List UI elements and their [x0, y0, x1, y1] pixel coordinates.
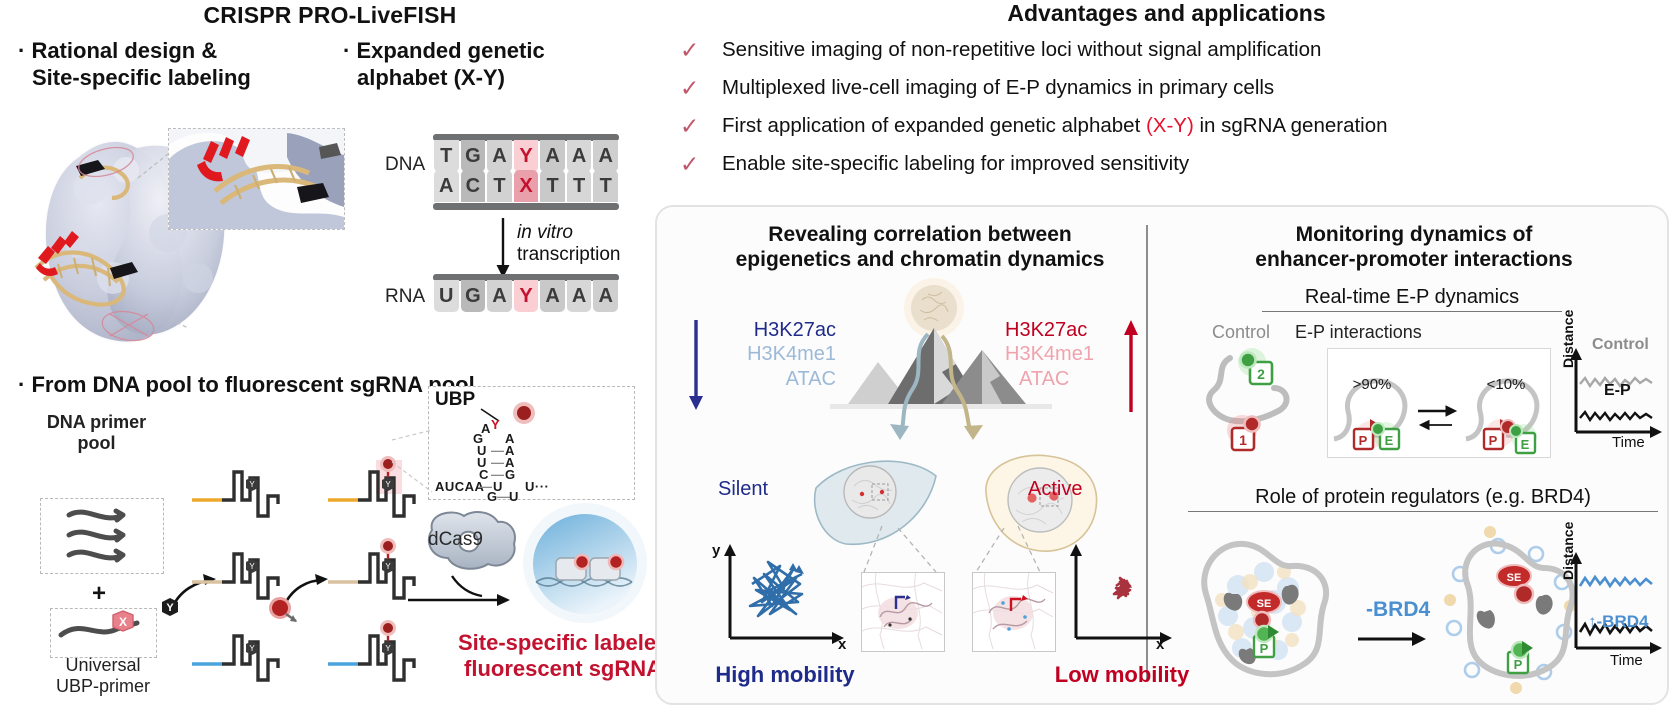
chromatin-zoom-silent	[861, 572, 945, 652]
rna-base: G	[461, 280, 486, 312]
dna-base-bottom: T	[540, 170, 565, 202]
mark-atac-high: ATAC	[1005, 367, 1127, 391]
dna-primer-pool-line1: DNA primer	[24, 412, 169, 433]
panel-right-title-line1: Monitoring dynamics of	[1170, 222, 1658, 247]
chart1-ylabel: Distance	[1560, 310, 1576, 368]
transcription-word: transcription	[517, 244, 621, 266]
mark-h3k27ac-low: H3K27ac	[706, 318, 836, 342]
dna-base-bottom: X	[514, 170, 539, 202]
dna-base-top: T	[434, 140, 459, 172]
rna-base: A	[567, 280, 592, 312]
check-icon: ✓	[680, 75, 699, 102]
bullet-rational-design: · Rational design & Site-specific labeli…	[18, 38, 338, 92]
bullet-expanded-alphabet: · Expanded genetic alphabet (X-Y)	[343, 38, 643, 92]
dna-base-top: A	[593, 140, 618, 172]
dna-label: DNA	[385, 154, 425, 176]
bullet-expanded-alphabet-line2: alphabet (X-Y)	[343, 65, 643, 92]
transcription-arrow	[493, 218, 513, 280]
mark-h3k27ac-high: H3K27ac	[1005, 318, 1127, 342]
dna-base-bottom-letter: C	[461, 170, 486, 202]
chart2-xlabel: Time	[1610, 652, 1643, 669]
cas9-structure-zoom-inset	[168, 128, 345, 230]
advantage-item: Sensitive imaging of non-repetitive loci…	[722, 38, 1321, 62]
dna-base-top-letter: T	[434, 140, 459, 172]
advantage-text-post: in sgRNA generation	[1194, 114, 1388, 137]
ep-interactions-label: E-P interactions	[1295, 322, 1422, 343]
super-enhancer-marker-after: SE	[1497, 565, 1533, 603]
brd4-removal-arrow	[1358, 628, 1434, 650]
sgrna-hairpin-wrapper: Y	[222, 460, 302, 526]
dna-base-bottom-letter: T	[487, 170, 512, 202]
rna-base-letter: U	[434, 280, 459, 312]
rna-loop-y: Y	[491, 417, 500, 432]
advantage-highlight-xy: (X-Y)	[1146, 114, 1194, 137]
rna-secondary-structure: AYGUUCAAAG———AUCAA—UG—UU···	[429, 387, 634, 499]
rna-base-letter: Y	[514, 280, 539, 312]
dna-base-top-letter: A	[567, 140, 592, 172]
ep-interaction-box: >90% P E <10% P E	[1327, 348, 1551, 458]
pct-low-text: <10%	[1487, 376, 1526, 393]
bullet-expanded-alphabet-line1: · Expanded genetic	[343, 38, 643, 65]
sgrna-hairpin: Y	[222, 460, 302, 526]
dna-base-bottom: T	[487, 170, 512, 202]
panel-left-title-line1: Revealing correlation between	[700, 222, 1140, 247]
page-title: CRISPR PRO-LiveFISH	[0, 2, 660, 29]
dna-base-top-letter: A	[540, 140, 565, 172]
sgrna-hairpin-wrapper: Y	[222, 624, 302, 690]
rna-tail: U···	[525, 479, 549, 494]
svg-text:P: P	[1260, 641, 1269, 656]
low-mobility-plot	[1062, 544, 1212, 656]
dna-base-bottom-letter: T	[540, 170, 565, 202]
dna-base-bottom-letter: X	[514, 170, 539, 202]
active-label: Active	[1028, 478, 1082, 501]
nucleus-illustration	[520, 498, 650, 628]
chart2-ylabel: Distance	[1560, 522, 1576, 580]
rna-label: RNA	[385, 286, 425, 308]
dna-primer-pool-line2: pool	[24, 433, 169, 454]
zoom-connector-lines	[840, 520, 1070, 576]
sgrna-hairpin: Y	[222, 624, 302, 690]
rna-base-letter: A	[487, 280, 512, 312]
ubp-primer-word: UBP-primer	[28, 676, 178, 697]
rna-base-letter: G	[461, 280, 486, 312]
check-icon: ✓	[680, 113, 699, 140]
chart2-up-arrow: ↑	[1588, 612, 1597, 631]
dna-to-rna-diagram: DNA RNA TGAYAAAACTXTTT in vitro transcri…	[385, 126, 650, 331]
marker-1-text: 1	[1239, 432, 1247, 448]
check-icon: ✓	[680, 37, 699, 64]
dna-base-top-letter: Y	[514, 140, 539, 172]
dna-primer-pool-box	[40, 498, 164, 574]
svg-text:Y: Y	[249, 562, 255, 571]
panel-right-title: Monitoring dynamics of enhancer-promoter…	[1170, 222, 1658, 272]
in-vitro-italic: in vitro	[517, 222, 573, 243]
dna-base-top: Y	[514, 140, 539, 172]
panel-right-title-line2: enhancer-promoter interactions	[1170, 247, 1658, 272]
rna-base-letter: A	[567, 280, 592, 312]
svg-text:X: X	[119, 615, 127, 629]
svg-text:Y: Y	[249, 480, 255, 489]
dna-base-bottom: T	[593, 170, 618, 202]
universal-ubp-primer-label: Universal UBP-primer	[28, 655, 178, 696]
dna-base-top: A	[567, 140, 592, 172]
mark-h3k4me1-high: H3K4me1	[1005, 342, 1127, 366]
dcas9-assembly-arrow	[408, 572, 518, 608]
advantage-item: Multiplexed live-cell imaging of E-P dyn…	[722, 76, 1274, 100]
dna-base-top-letter: A	[593, 140, 618, 172]
condensate-with-brd4: SE P	[1192, 524, 1352, 694]
fluorophore-icon	[382, 622, 395, 635]
down-arrow-icon	[686, 320, 706, 412]
advantages-title: Advantages and applications	[660, 0, 1673, 27]
ubp-rna-structure-inset: UBP AYGUUCAAAG———AUCAA—UG—UU···	[428, 386, 635, 500]
chart1-legend-control: Control	[1592, 336, 1649, 354]
advantage-item: Enable site-specific labeling for improv…	[722, 152, 1189, 176]
svg-text:Y: Y	[385, 644, 391, 653]
plus-sign: +	[92, 580, 106, 608]
brd4-removal-label: -BRD4	[1366, 598, 1430, 622]
chart2-brd4-text: -BRD4	[1597, 612, 1649, 631]
dna-base-bottom-letter: T	[567, 170, 592, 202]
rna-base: A	[540, 280, 565, 312]
rna-base: Y	[514, 280, 539, 312]
svg-text:Y: Y	[385, 562, 391, 571]
rna-stem-bot-u: U	[509, 489, 519, 504]
fluorophore-icon	[382, 540, 395, 553]
rna-strand: UGAYAAA	[433, 274, 619, 314]
section-realtime-ep: Real-time E-P dynamics	[1262, 286, 1562, 312]
dna-base-top-letter: A	[487, 140, 512, 172]
dna-base-top: A	[487, 140, 512, 172]
dna-base-bottom: A	[434, 170, 459, 202]
universal-ubp-primer-box: X	[50, 608, 157, 658]
ubp-x-marker: X	[113, 611, 133, 631]
axis-label-x-left: x	[838, 636, 846, 653]
section-protein-regulators: Role of protein regulators (e.g. BRD4)	[1188, 486, 1658, 512]
rna-base: U	[434, 280, 459, 312]
svg-text:SE: SE	[1257, 598, 1272, 610]
low-mobility-label: Low mobility	[1032, 662, 1212, 688]
control-label: Control	[1212, 322, 1270, 343]
dna-primer-pool-label: DNA primer pool	[24, 412, 169, 453]
bullet-rational-design-line1: · Rational design &	[18, 38, 338, 65]
rna-base: A	[487, 280, 512, 312]
chromatin-zoom-active	[972, 572, 1056, 652]
promoter-marker-after: P	[1508, 641, 1533, 673]
chart2-legend-brd4: ↑-BRD4	[1588, 612, 1648, 632]
chart1-xlabel: Time	[1612, 434, 1645, 451]
svg-text:SE: SE	[1507, 572, 1522, 584]
svg-text:P: P	[1514, 657, 1523, 672]
dna-duplex: TGAYAAAACTXTTT	[433, 134, 619, 210]
check-icon: ✓	[680, 151, 699, 178]
dna-base-bottom: C	[461, 170, 486, 202]
dna-base-bottom-letter: T	[593, 170, 618, 202]
sgrna-hairpins-stage1: YYY	[192, 460, 272, 695]
dna-base-top-letter: G	[461, 140, 486, 172]
sgrna-hairpin-wrapper: Y	[358, 624, 438, 690]
pct-high-text: >90%	[1353, 376, 1392, 393]
silent-label: Silent	[718, 478, 768, 501]
rna-base: A	[593, 280, 618, 312]
chart1-legend-ep: E-P	[1604, 382, 1631, 400]
universal-word: Universal	[28, 655, 178, 676]
axis-label-x-right: x	[1156, 636, 1164, 653]
advantage-text-pre: First application of expanded genetic al…	[722, 114, 1146, 137]
marker-2-text: 2	[1257, 366, 1265, 382]
panel-left-title-line2: epigenetics and chromatin dynamics	[700, 247, 1140, 272]
advantage-item: First application of expanded genetic al…	[722, 114, 1388, 138]
epigenetic-marks-high: H3K27ac H3K4me1 ATAC	[1005, 318, 1127, 391]
bullet-rational-design-line2: Site-specific labeling	[18, 65, 338, 92]
ubp-inset-connector	[392, 430, 436, 496]
in-vitro-transcription-label: in vitro transcription	[517, 222, 621, 267]
svg-text:E: E	[1521, 437, 1530, 452]
rna-stem-left-seq: AUCAA	[435, 479, 484, 494]
dna-base-bottom-letter: A	[434, 170, 459, 202]
svg-text:E: E	[1385, 433, 1394, 448]
y-base-marker: Y	[246, 477, 258, 491]
dna-base-bottom: T	[567, 170, 592, 202]
dna-base-top: G	[461, 140, 486, 172]
up-arrow-icon	[1121, 320, 1141, 412]
svg-text:P: P	[1359, 433, 1368, 448]
dye-attach-arrow	[270, 566, 334, 618]
svg-text:P: P	[1489, 433, 1498, 448]
rna-stem-right-3: G	[505, 467, 516, 482]
axis-label-y-left: y	[712, 542, 720, 559]
high-mobility-label: High mobility	[700, 662, 870, 688]
sgrna-hairpin: Y	[358, 624, 438, 690]
svg-text:Y: Y	[249, 644, 255, 653]
mark-atac-low: ATAC	[706, 367, 836, 391]
rna-base-letter: A	[540, 280, 565, 312]
dna-base-top: A	[540, 140, 565, 172]
svg-text:Y: Y	[166, 602, 174, 614]
dcas9-label: dCas9	[428, 529, 483, 551]
rna-base-letter: A	[593, 280, 618, 312]
dcas9-protein-icon: dCas9	[414, 508, 526, 574]
control-loop-illustration: 2 1	[1200, 344, 1310, 454]
svg-text:Y: Y	[385, 480, 391, 489]
epigenetic-marks-low: H3K27ac H3K4me1 ATAC	[706, 318, 836, 391]
panel-left-title: Revealing correlation between epigenetic…	[700, 222, 1140, 272]
mark-h3k4me1-low: H3K4me1	[706, 342, 836, 366]
